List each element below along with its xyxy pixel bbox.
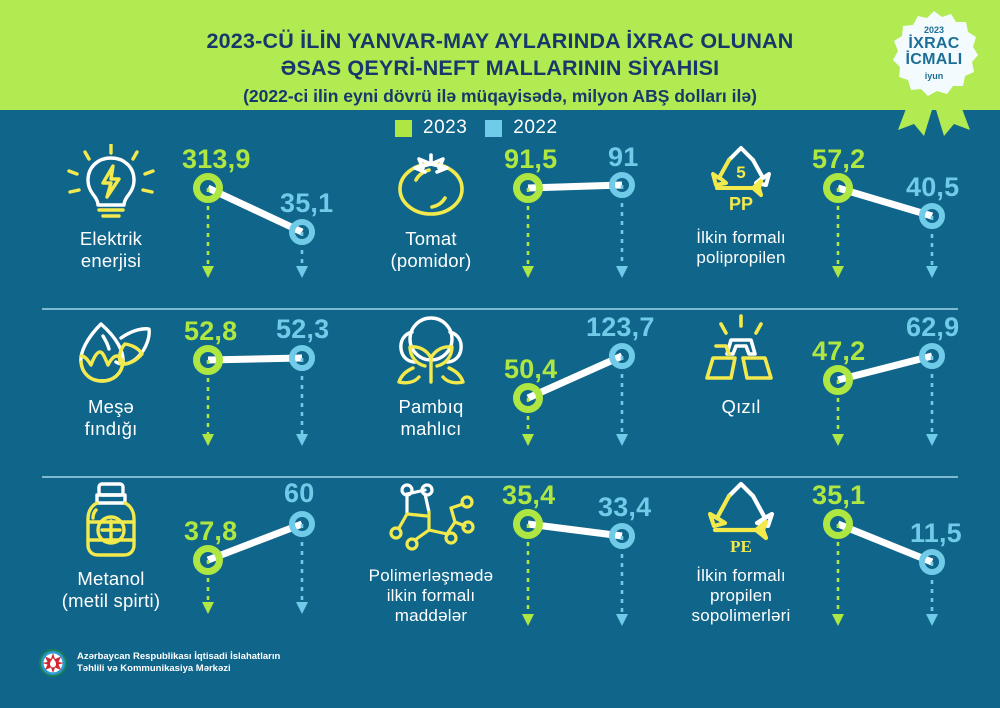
item-label: İlkin formalı polipropilen xyxy=(696,228,786,268)
label-line-2: mahlıcı xyxy=(400,418,461,439)
recycle-number: 5 xyxy=(736,163,745,182)
item-icon-label-group: 5 PP İlkin formalı polipropilen xyxy=(666,144,816,268)
item-metanol: Metanol (metil spirti) 37,8 xyxy=(36,476,356,644)
azerbaijan-emblem-icon xyxy=(38,648,68,678)
item-chart: 52,8 52,3 xyxy=(184,308,356,476)
label-line-2: polipropilen xyxy=(696,248,785,267)
item-chart: 35,4 33,4 xyxy=(504,476,676,644)
recycle-caption: PP xyxy=(729,194,753,214)
value-2022: 62,9 xyxy=(906,312,959,343)
item-icon-label-group: Qızıl xyxy=(666,312,816,418)
label-line-2: ilkin formalı xyxy=(387,586,476,605)
footer: Azərbaycan Respublikası İqtisadi İslahat… xyxy=(38,648,280,678)
label-line-1: Qızıl xyxy=(721,396,760,417)
value-2022: 11,5 xyxy=(910,518,962,549)
header-banner: 2023-CÜ İLİN YANVAR-MAY AYLARINDA İXRAC … xyxy=(0,0,1000,110)
title-subtitle: (2022-ci ilin eyni dövrü ilə müqayisədə,… xyxy=(120,84,880,109)
item-label: Metanol (metil spirti) xyxy=(62,568,160,612)
label-line-1: İlkin formalı xyxy=(696,228,786,247)
footer-line-2: Təhlili və Kommunikasiya Mərkəzi xyxy=(77,663,280,675)
value-2023: 57,2 xyxy=(812,144,865,175)
item-label: Elektrik enerjisi xyxy=(80,228,142,272)
value-2023: 35,4 xyxy=(502,480,555,511)
item-chart: 50,4 123,7 xyxy=(504,308,676,476)
item-label: Qızıl xyxy=(721,396,760,418)
value-2022: 35,1 xyxy=(280,188,333,219)
value-2023: 313,9 xyxy=(182,144,251,175)
items-grid: Elektrik enerjisi 313,9 35 xyxy=(0,140,1000,644)
label-line-2: (pomidor) xyxy=(391,250,472,271)
item-label: Tomat (pomidor) xyxy=(391,228,472,272)
item-qizil: Qızıl 47,2 62,9 xyxy=(666,308,984,476)
ixrac-icmali-badge: 2023 İXRAC İCMALI iyun xyxy=(878,4,990,138)
item-icon-label-group: Pambıq mahlıcı xyxy=(356,312,506,440)
value-2022: 33,4 xyxy=(598,492,651,523)
items-row-3: Metanol (metil spirti) 37,8 xyxy=(0,476,1000,644)
item-label: Meşə fındığı xyxy=(85,396,138,440)
label-line-2: propilen xyxy=(710,586,772,605)
item-chart: 91,5 91 xyxy=(504,140,676,308)
item-chart: 37,8 60 xyxy=(184,476,356,644)
label-line-1: Meşə xyxy=(88,396,134,417)
value-2023: 50,4 xyxy=(504,354,557,385)
legend-item-2022: 2022 xyxy=(485,117,557,139)
value-2022: 91 xyxy=(608,142,638,173)
legend-swatch-2023-icon xyxy=(395,120,412,137)
item-chart: 47,2 62,9 xyxy=(814,308,986,476)
badge-month: iyun xyxy=(925,70,944,83)
footer-organization: Azərbaycan Respublikası İqtisadi İslahat… xyxy=(77,651,280,675)
label-line-1: Metanol xyxy=(77,568,144,589)
lightbulb-icon xyxy=(63,144,159,222)
item-icon-label-group: PE İlkin formalı propilen sopolimerləri xyxy=(666,480,816,626)
value-2022: 60 xyxy=(284,478,314,509)
value-2023: 35,1 xyxy=(812,480,865,511)
label-line-1: Polimerləşmədə xyxy=(369,566,494,585)
item-ilkin-formali-propilen-sopolimerleri: PE İlkin formalı propilen sopolimerləri xyxy=(666,476,984,644)
item-pambiq-mahlici: Pambıq mahlıcı 50,4 123,7 xyxy=(356,308,666,476)
item-icon-label-group: Polimerləşmədə ilkin formalı maddələr xyxy=(356,480,506,626)
label-line-1: Pambıq xyxy=(399,396,464,417)
label-line-1: Elektrik xyxy=(80,228,142,249)
value-2023: 37,8 xyxy=(184,516,237,547)
label-line-2: fındığı xyxy=(85,418,138,439)
value-2022: 123,7 xyxy=(586,312,655,343)
item-elektrik-enerjisi: Elektrik enerjisi 313,9 35 xyxy=(36,140,356,308)
item-chart: 313,9 35,1 xyxy=(184,140,356,308)
badge-text-group: 2023 İXRAC İCMALI iyun xyxy=(890,10,978,98)
item-tomat-pomidor: Tomat (pomidor) 91,5 91 xyxy=(356,140,666,308)
item-chart: 35,1 11,5 xyxy=(814,476,986,644)
value-2022: 40,5 xyxy=(906,172,959,203)
item-polimerlesmede-maddeler: Polimerləşmədə ilkin formalı maddələr xyxy=(356,476,666,644)
item-label: İlkin formalı propilen sopolimerləri xyxy=(692,566,791,626)
legend-swatch-2022-icon xyxy=(485,120,502,137)
molecule-icon xyxy=(381,480,481,560)
page-title: 2023-CÜ İLİN YANVAR-MAY AYLARINDA İXRAC … xyxy=(120,28,880,109)
tomato-icon xyxy=(383,144,479,222)
footer-line-1: Azərbaycan Respublikası İqtisadi İslahat… xyxy=(77,651,280,663)
gold-bars-icon xyxy=(693,312,789,390)
item-label: Polimerləşmədə ilkin formalı maddələr xyxy=(369,566,494,626)
title-line-2: ƏSAS QEYRİ-NEFT MALLARININ SİYAHISI xyxy=(120,55,880,82)
value-2023: 52,8 xyxy=(184,316,237,347)
value-2023: 91,5 xyxy=(504,144,557,175)
label-line-2: (metil spirti) xyxy=(62,590,160,611)
connector-and-markers xyxy=(184,476,356,644)
label-line-3: sopolimerləri xyxy=(692,606,791,625)
legend: 2023 2022 xyxy=(395,117,558,139)
label-line-2: enerjisi xyxy=(81,250,141,271)
hazelnut-icon xyxy=(63,312,159,390)
label-line-1: İlkin formalı xyxy=(696,566,786,585)
cotton-icon xyxy=(383,312,479,390)
connector-and-markers xyxy=(814,308,986,476)
label-line-3: maddələr xyxy=(395,606,467,625)
title-line-1: 2023-CÜ İLİN YANVAR-MAY AYLARINDA İXRAC … xyxy=(120,28,880,55)
items-row-1: Elektrik enerjisi 313,9 35 xyxy=(0,140,1000,308)
recycle-caption: PE xyxy=(730,537,752,556)
items-row-2: Meşə fındığı 52,8 52,3 xyxy=(0,308,1000,476)
badge-main-line-1: İXRAC xyxy=(908,36,959,52)
legend-label-2023: 2023 xyxy=(423,117,467,139)
item-ilkin-formali-polipropilen: 5 PP İlkin formalı polipropilen xyxy=(666,140,984,308)
item-icon-label-group: Elektrik enerjisi xyxy=(36,144,186,272)
item-icon-label-group: Meşə fındığı xyxy=(36,312,186,440)
badge-main-line-2: İCMALI xyxy=(906,52,963,68)
item-icon-label-group: Metanol (metil spirti) xyxy=(36,480,186,612)
legend-item-2023: 2023 xyxy=(395,117,467,139)
medicine-bottle-icon xyxy=(63,480,159,562)
item-icon-label-group: Tomat (pomidor) xyxy=(356,144,506,272)
value-2023: 47,2 xyxy=(812,336,865,367)
item-chart: 57,2 40,5 xyxy=(814,140,986,308)
value-2022: 52,3 xyxy=(276,314,329,345)
item-mese-findigi: Meşə fındığı 52,8 52,3 xyxy=(36,308,356,476)
legend-label-2022: 2022 xyxy=(513,117,557,139)
recycle-pe-icon: PE xyxy=(693,480,789,560)
label-line-1: Tomat xyxy=(405,228,456,249)
recycle-pp-icon: 5 PP xyxy=(693,144,789,222)
item-label: Pambıq mahlıcı xyxy=(399,396,464,440)
